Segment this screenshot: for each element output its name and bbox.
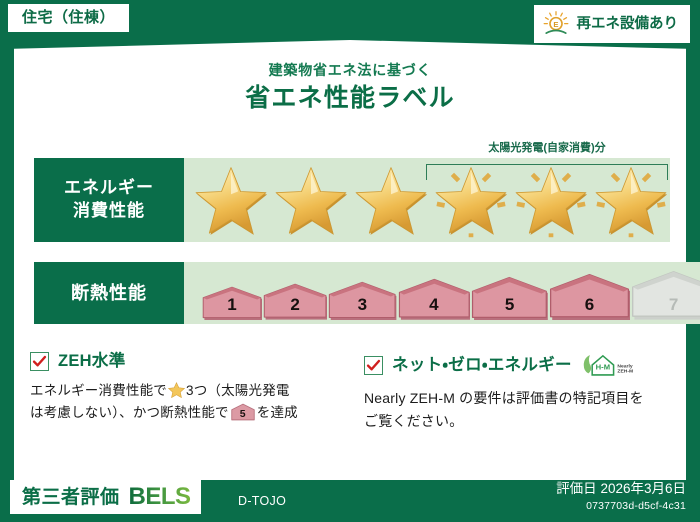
house-icon xyxy=(328,281,396,320)
zeh-body-part4: を達成 xyxy=(257,405,298,420)
star-icon xyxy=(355,165,427,235)
claim-zeh-standard: ZEH水準 エネルギー消費性能で3つ（太陽光発電は考慮しない）、かつ断熱性能で5… xyxy=(30,352,350,462)
zeh-standard-checkbox[interactable] xyxy=(30,352,49,371)
building-type-tab: 住宅（住棟） xyxy=(8,4,129,32)
insulation-grade-6: 6 xyxy=(549,273,630,320)
star-icon xyxy=(195,165,267,235)
nearly-zeh-m-logo-icon: H-M Nearly ZEH-M xyxy=(581,352,637,378)
net-zero-energy-checkbox[interactable] xyxy=(364,356,383,375)
solar-annotation-caption: 太陽光発電(自家消費)分 xyxy=(426,143,668,154)
svg-text:ZEH-M: ZEH-M xyxy=(617,369,633,375)
inline-star-icon xyxy=(168,382,185,398)
insulation-grade-1: 1 xyxy=(202,286,262,320)
energy-star-2 xyxy=(272,162,350,238)
zeh-standard-body: エネルギー消費性能で3つ（太陽光発電は考慮しない）、かつ断熱性能で5を達成 xyxy=(30,380,334,424)
house-icon xyxy=(263,283,327,320)
house-icon xyxy=(471,276,548,320)
claim-net-zero-energy: ネット・ゼロ・エネルギー H-M Nearly ZEH-M Nearly ZEH… xyxy=(350,352,670,462)
insulation-grade-scale: 1234567 xyxy=(184,262,700,324)
net-zero-energy-body: Nearly ZEH-M の要件は評価書の特記項目をご覧ください。 xyxy=(364,387,654,432)
solar-sun-icon: E xyxy=(542,10,570,38)
insulation-grade-7: 7 xyxy=(631,270,700,320)
svg-text:H-M: H-M xyxy=(596,363,610,372)
claim-zeh-header: ZEH水準 xyxy=(30,352,334,371)
insulation-row-label: 断熱性能 xyxy=(34,262,184,324)
bels-code: D-TOJO xyxy=(238,495,286,508)
energy-star-1 xyxy=(192,162,270,238)
claim-nze-header: ネット・ゼロ・エネルギー H-M Nearly ZEH-M xyxy=(364,352,654,378)
insulation-grade-4: 4 xyxy=(398,278,471,320)
insulation-grade-5: 5 xyxy=(471,276,548,320)
renewable-badge-label: 再エネ設備あり xyxy=(577,17,679,32)
energy-star-3 xyxy=(352,162,430,238)
zeh-body-part3: は考慮しない）、かつ断熱性能で xyxy=(30,405,229,420)
svg-text:E: E xyxy=(553,20,558,29)
building-type-label: 住宅（住棟） xyxy=(22,10,115,25)
bels-plate: 第三者評価 BELS xyxy=(10,480,201,514)
energy-row-label-line2: 消費性能 xyxy=(73,200,145,223)
insulation-row-body: 1234567 xyxy=(184,262,700,324)
energy-consumption-row: エネルギー 消費性能 太陽光発電(自家消費)分 xyxy=(34,158,668,242)
evaluation-id: 0737703d-d5cf-4c31 xyxy=(556,500,686,513)
house-icon xyxy=(398,278,471,320)
zeh-body-part1: エネルギー消費性能で xyxy=(30,383,167,398)
page-subtitle: 建築物省エネ法に基づく xyxy=(0,62,700,79)
energy-performance-label: 住宅（住棟） E 再エネ設備あり 建築物省エネ法に基づく 省エネ性能ラベル エネ xyxy=(0,0,700,522)
net-zero-energy-title: ネット・ゼロ・エネルギー xyxy=(392,357,572,374)
energy-row-label-line1: エネルギー xyxy=(64,177,154,200)
svg-text:Nearly: Nearly xyxy=(617,363,632,369)
insulation-performance-row: 断熱性能 1234567 xyxy=(34,262,668,324)
third-party-label: 第三者評価 xyxy=(22,488,120,507)
renewable-equipment-badge: E 再エネ設備あり xyxy=(534,5,691,43)
insulation-row-label-text: 断熱性能 xyxy=(71,281,147,305)
zeh-standard-title: ZEH水準 xyxy=(58,353,126,370)
footer-bar: 第三者評価 BELS D-TOJO 評価日 2026年3月6日 0737703d… xyxy=(0,476,700,522)
energy-row-body: 太陽光発電(自家消費)分 xyxy=(184,158,670,242)
bels-logo-text: BELS xyxy=(129,485,191,509)
insulation-grade-3: 3 xyxy=(328,281,396,320)
energy-row-label: エネルギー 消費性能 xyxy=(34,158,184,242)
zeh-body-part2: 3つ（太陽光発電 xyxy=(186,383,290,398)
inline-grade-badge: 5 xyxy=(231,403,255,421)
insulation-grade-2: 2 xyxy=(263,283,327,320)
claims-section: ZEH水準 エネルギー消費性能で3つ（太陽光発電は考慮しない）、かつ断熱性能で5… xyxy=(30,352,670,462)
evaluation-info: 評価日 2026年3月6日 0737703d-d5cf-4c31 xyxy=(556,481,686,512)
evaluation-date: 評価日 2026年3月6日 xyxy=(556,481,686,498)
inline-grade-value: 5 xyxy=(231,409,255,420)
page-title: 省エネ性能ラベル xyxy=(0,85,700,113)
check-icon xyxy=(32,354,47,369)
house-icon xyxy=(549,273,630,320)
star-icon xyxy=(275,165,347,235)
check-icon xyxy=(366,358,381,373)
solar-annotation-bracket xyxy=(426,164,668,180)
house-icon xyxy=(202,286,262,320)
page-title-block: 建築物省エネ法に基づく 省エネ性能ラベル xyxy=(0,62,700,112)
house-icon xyxy=(631,270,700,320)
